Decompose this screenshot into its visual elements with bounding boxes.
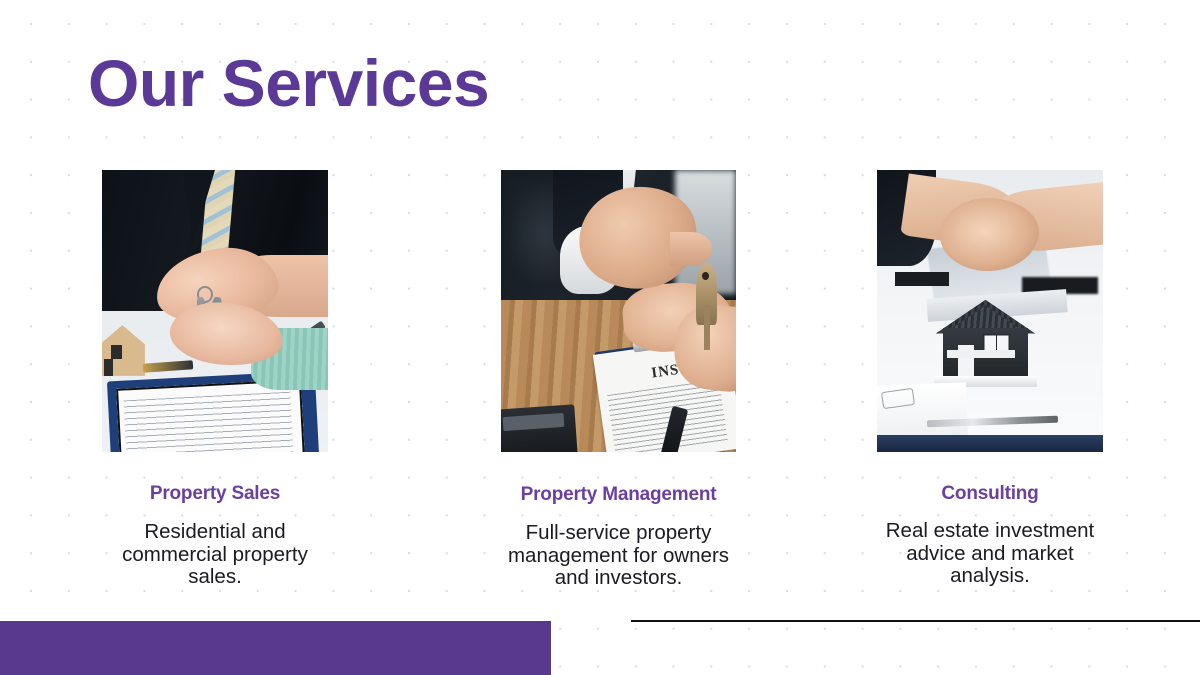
service-title: Property Sales <box>102 482 328 506</box>
service-image-property-sales <box>102 170 328 452</box>
service-image-property-management: INSUR <box>501 170 736 452</box>
service-description: Residential and commercial property sale… <box>102 521 328 589</box>
service-description: Real estate investment advice and market… <box>877 520 1103 588</box>
service-card-property-management[interactable]: INSUR Property Management Full-service p… <box>501 170 736 590</box>
footer-accent-bar <box>0 621 551 675</box>
footer-rule-line <box>631 620 1200 622</box>
photo-scene-key-over-desk: INSUR <box>501 170 736 452</box>
page-title: Our Services <box>88 44 489 122</box>
slide-canvas: Our Services Property Sales Residential … <box>0 0 1200 675</box>
service-card-property-sales[interactable]: Property Sales Residential and commercia… <box>102 170 328 589</box>
service-card-consulting[interactable]: Consulting Real estate investment advice… <box>877 170 1103 588</box>
service-title: Property Management <box>501 483 736 507</box>
service-description: Full-service property management for own… <box>501 522 736 590</box>
service-title: Consulting <box>877 482 1103 506</box>
photo-scene-handshake <box>877 170 1103 452</box>
service-image-consulting <box>877 170 1103 452</box>
photo-scene-keys-handover <box>102 170 328 452</box>
